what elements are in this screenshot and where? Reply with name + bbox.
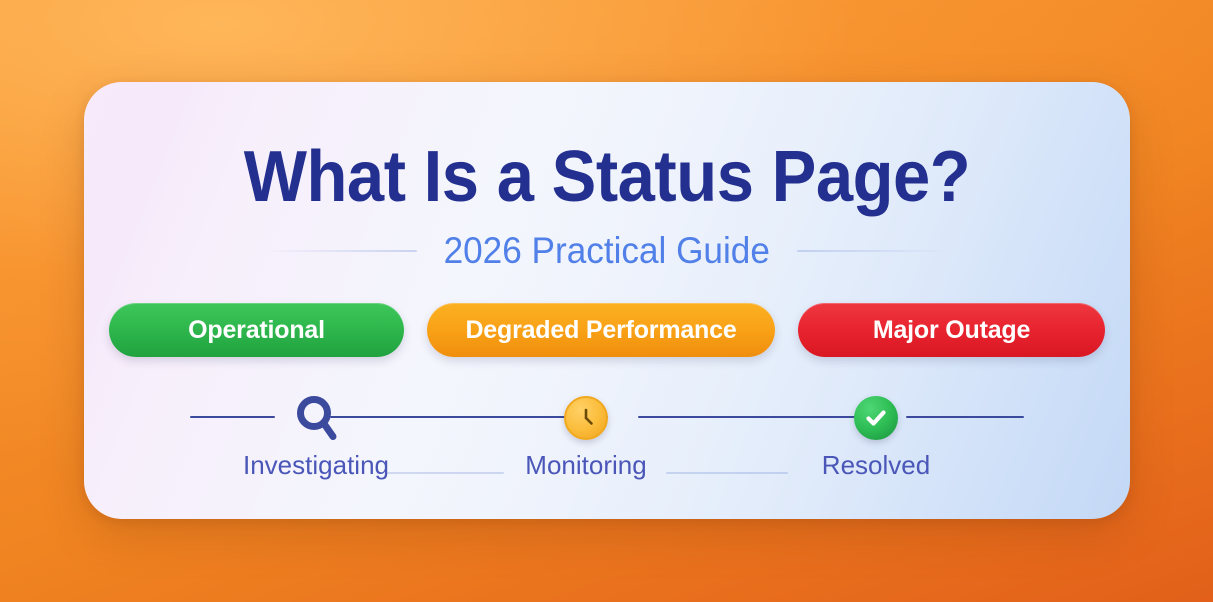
timeline-stage-investigating[interactable]: Investigating bbox=[226, 394, 406, 480]
clock-icon bbox=[564, 396, 608, 440]
clock-icon-wrap bbox=[496, 394, 676, 442]
timeline-label-connector bbox=[666, 472, 788, 474]
timeline-stage-resolved[interactable]: Resolved bbox=[786, 394, 966, 480]
incident-timeline: Investigating Monitoring bbox=[190, 394, 1024, 492]
magnifier-icon bbox=[226, 394, 406, 442]
status-badge-degraded-performance[interactable]: Degraded Performance bbox=[427, 303, 775, 357]
status-badge-operational[interactable]: Operational bbox=[109, 303, 404, 357]
check-icon-wrap bbox=[786, 394, 966, 442]
status-badge-major-outage[interactable]: Major Outage bbox=[798, 303, 1105, 357]
page-subtitle: 2026 Practical Guide bbox=[444, 230, 770, 272]
timeline-stage-label: Monitoring bbox=[496, 450, 676, 480]
timeline-stage-label: Resolved bbox=[786, 450, 966, 480]
page-title: What Is a Status Page? bbox=[121, 136, 1094, 218]
timeline-stage-monitoring[interactable]: Monitoring bbox=[496, 394, 676, 480]
check-icon bbox=[854, 396, 898, 440]
subtitle-rule-left bbox=[269, 250, 417, 252]
timeline-stage-label: Investigating bbox=[226, 450, 406, 480]
infographic-card: What Is a Status Page? 2026 Practical Gu… bbox=[84, 82, 1130, 519]
subtitle-rule-right bbox=[797, 250, 945, 252]
infographic-canvas: What Is a Status Page? 2026 Practical Gu… bbox=[0, 0, 1213, 602]
status-pill-group: Operational Degraded Performance Major O… bbox=[84, 303, 1130, 357]
subtitle-row: 2026 Practical Guide bbox=[84, 230, 1130, 272]
